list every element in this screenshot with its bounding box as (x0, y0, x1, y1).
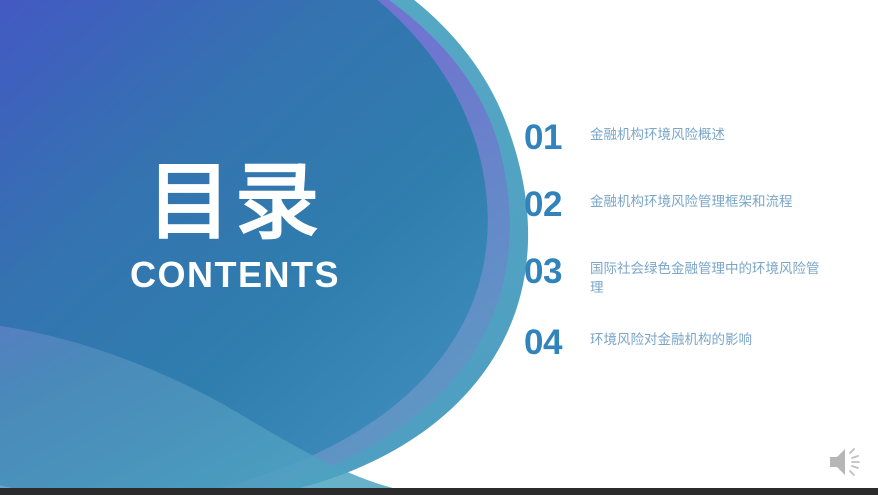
presentation-slide: 目录 CONTENTS 01 金融机构环境风险概述 02 金融机构环境风险管理框… (0, 0, 878, 495)
speaker-waves (850, 449, 859, 475)
background-blob-lower (0, 320, 430, 495)
speaker-body (830, 449, 845, 475)
page-subtitle: CONTENTS (0, 257, 470, 293)
list-item[interactable]: 03 国际社会绿色金融管理中的环境风险管理 (524, 254, 854, 298)
list-item-label: 环境风险对金融机构的影响 (590, 325, 826, 350)
list-item-label: 国际社会绿色金融管理中的环境风险管理 (590, 254, 826, 298)
window-bottom-bar (0, 488, 878, 495)
list-item-label: 金融机构环境风险管理框架和流程 (590, 187, 826, 212)
list-item[interactable]: 04 环境风险对金融机构的影响 (524, 325, 854, 360)
list-item-number: 04 (524, 325, 590, 360)
page-title: 目录 (0, 160, 470, 244)
list-item-number: 01 (524, 120, 590, 155)
list-item-number: 02 (524, 187, 590, 222)
list-item-number: 03 (524, 254, 590, 289)
list-item[interactable]: 02 金融机构环境风险管理框架和流程 (524, 187, 854, 222)
list-item-label: 金融机构环境风险概述 (590, 120, 826, 145)
speaker-volume-icon[interactable] (826, 444, 868, 480)
slide-title-block: 目录 CONTENTS (0, 160, 470, 293)
list-item[interactable]: 01 金融机构环境风险概述 (524, 120, 854, 155)
